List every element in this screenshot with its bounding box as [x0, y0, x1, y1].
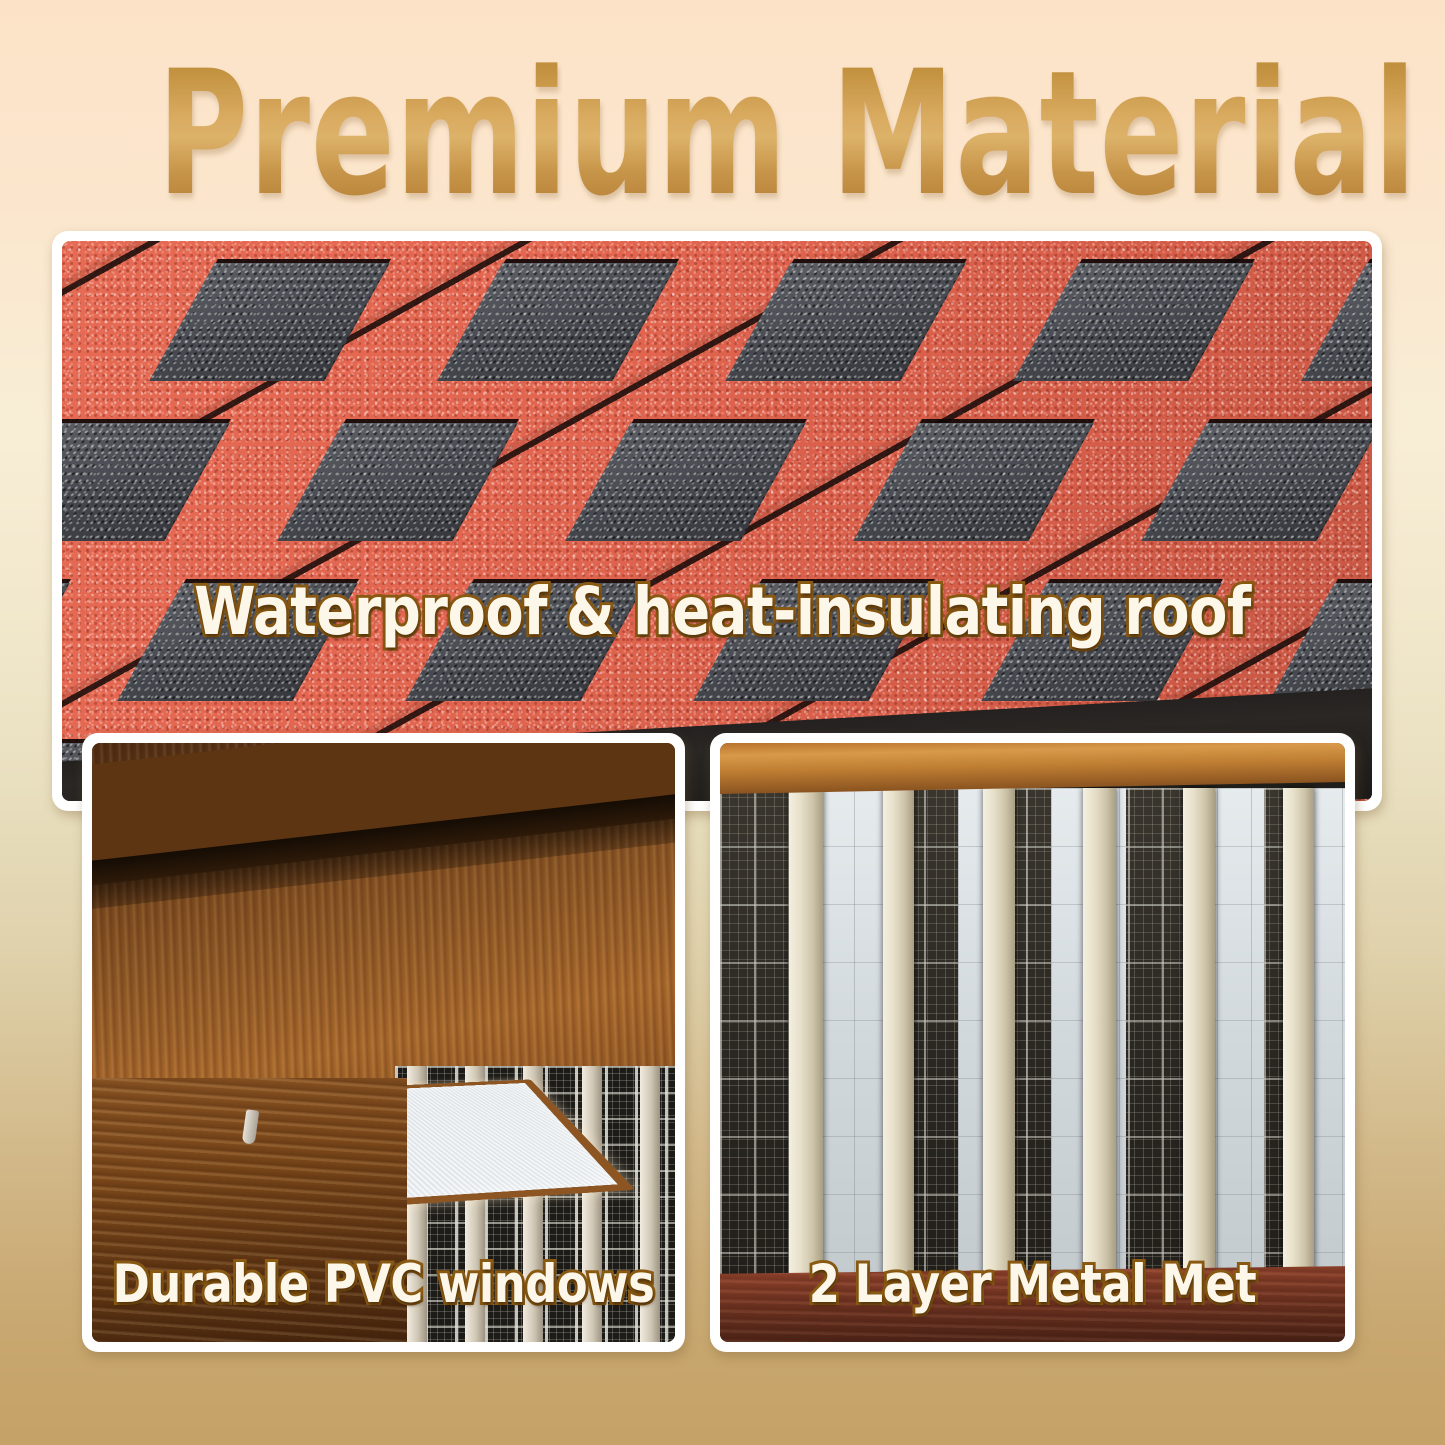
premium-material-poster: Premium Material [0, 0, 1445, 1445]
feature-caption-mesh: 2 Layer Metal Met [729, 1254, 1335, 1315]
wooden-slat [789, 788, 823, 1276]
wooden-slat [1183, 788, 1216, 1276]
metal-mesh-photo [720, 743, 1345, 1342]
wooden-slat [1283, 788, 1314, 1276]
feature-card-mesh-image-frame [720, 743, 1345, 1342]
feature-card-roof [52, 231, 1382, 811]
wooden-slat [883, 788, 914, 1276]
page-title: Premium Material [157, 48, 1416, 220]
page-title-container: Premium Material [0, 48, 1445, 220]
mesh-top-rail [720, 743, 1345, 794]
roof-shingle-photo [62, 241, 1372, 801]
wooden-slat [1083, 788, 1117, 1276]
feature-card-roof-image-frame [62, 241, 1372, 801]
mesh-gap-light [820, 788, 889, 1276]
feature-caption-roof: Waterproof & heat-insulating roof [43, 573, 1401, 650]
wooden-slat [983, 788, 1016, 1276]
feature-card-pvc-image-frame [92, 743, 675, 1342]
pvc-window-photo [92, 743, 675, 1342]
feature-caption-pvc: Durable PVC windows [100, 1254, 667, 1315]
